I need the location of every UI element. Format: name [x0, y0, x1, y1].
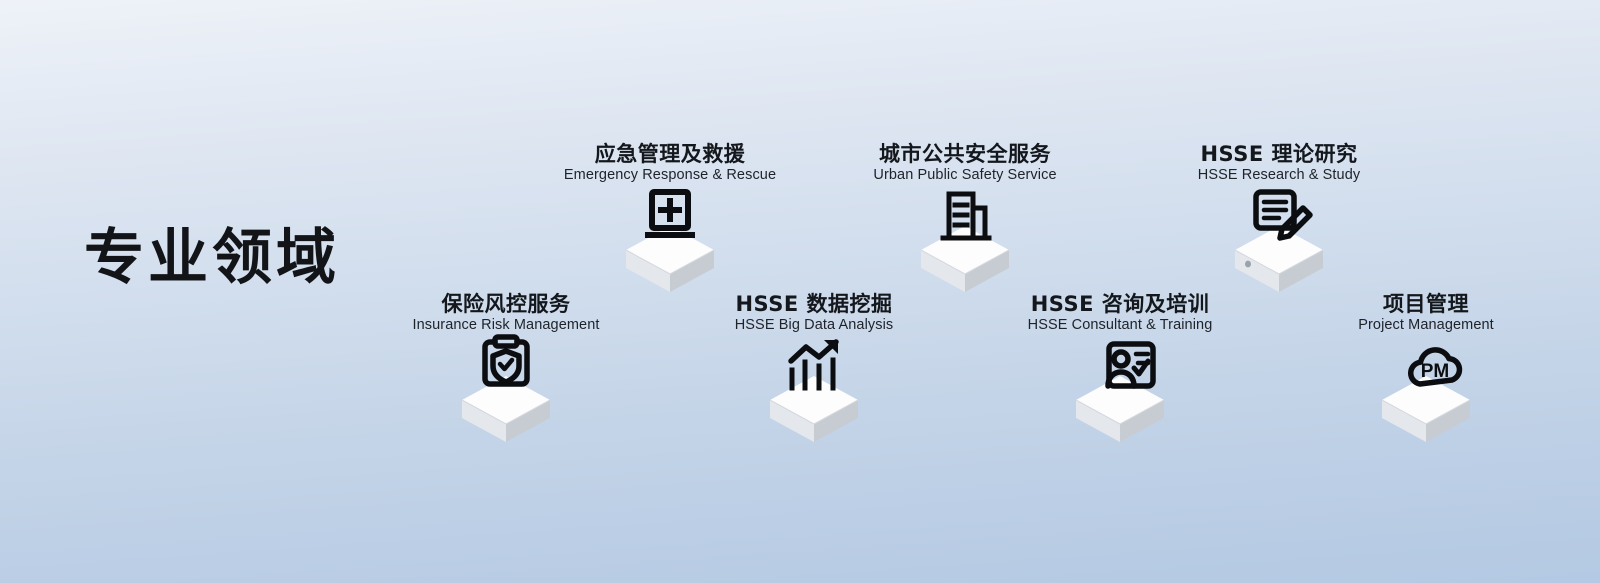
field-card-hsse-consultant-training[interactable]: HSSE 咨询及培训 HSSE Consultant & Training	[1000, 293, 1240, 452]
field-icon-stack: PM	[1306, 334, 1546, 452]
field-labels: HSSE 理论研究 HSSE Research & Study	[1159, 143, 1399, 184]
clipboard-shield-check-icon	[468, 330, 544, 406]
field-label-cn: 应急管理及救援	[550, 143, 790, 165]
professional-fields-banner: 专业领域 应急管理及救援 Emergency Response & Rescue	[0, 0, 1600, 583]
field-label-cn: 保险风控服务	[386, 293, 626, 315]
field-card-emergency-response-rescue[interactable]: 应急管理及救援 Emergency Response & Rescue	[550, 143, 790, 302]
field-label-en: HSSE Consultant & Training	[1000, 318, 1240, 334]
field-card-hsse-big-data-analysis[interactable]: HSSE 数据挖掘 HSSE Big Data Analysis	[694, 293, 934, 452]
field-labels: 应急管理及救援 Emergency Response & Rescue	[550, 143, 790, 184]
city-buildings-icon	[927, 186, 1003, 262]
field-label-en: Project Management	[1306, 318, 1546, 334]
cloud-pm-label: PM	[1420, 361, 1449, 382]
field-icon-stack	[386, 334, 626, 452]
field-labels: 项目管理 Project Management	[1306, 293, 1546, 334]
field-label-cn: HSSE 理论研究	[1159, 143, 1399, 165]
field-label-cn: 项目管理	[1306, 293, 1546, 315]
page-title: 专业领域	[84, 228, 340, 288]
field-labels: HSSE 数据挖掘 HSSE Big Data Analysis	[694, 293, 934, 334]
field-labels: 城市公共安全服务 Urban Public Safety Service	[845, 143, 1085, 184]
field-label-cn: HSSE 咨询及培训	[1000, 293, 1240, 315]
field-card-hsse-research-study[interactable]: HSSE 理论研究 HSSE Research & Study	[1159, 143, 1399, 302]
field-label-cn: 城市公共安全服务	[845, 143, 1085, 165]
field-label-cn: HSSE 数据挖掘	[694, 293, 934, 315]
field-icon-stack	[1000, 334, 1240, 452]
document-pencil-icon	[1241, 182, 1317, 258]
field-icon-stack	[550, 184, 790, 302]
field-icon-stack	[845, 184, 1085, 302]
field-label-en: Urban Public Safety Service	[845, 168, 1085, 184]
person-id-card-icon	[1092, 334, 1168, 410]
field-card-urban-public-safety-service[interactable]: 城市公共安全服务 Urban Public Safety Service	[845, 143, 1085, 302]
field-labels: HSSE 咨询及培训 HSSE Consultant & Training	[1000, 293, 1240, 334]
field-icon-stack	[694, 334, 934, 452]
bar-chart-trend-icon	[776, 336, 852, 412]
field-card-project-management[interactable]: 项目管理 Project Management PM	[1306, 293, 1546, 452]
first-aid-kit-icon	[632, 182, 708, 258]
field-icon-stack	[1159, 184, 1399, 302]
field-card-insurance-risk-management[interactable]: 保险风控服务 Insurance Risk Management	[386, 293, 626, 452]
field-label-en: HSSE Big Data Analysis	[694, 318, 934, 334]
cloud-pm-icon: PM	[1398, 340, 1474, 416]
field-labels: 保险风控服务 Insurance Risk Management	[386, 293, 626, 334]
